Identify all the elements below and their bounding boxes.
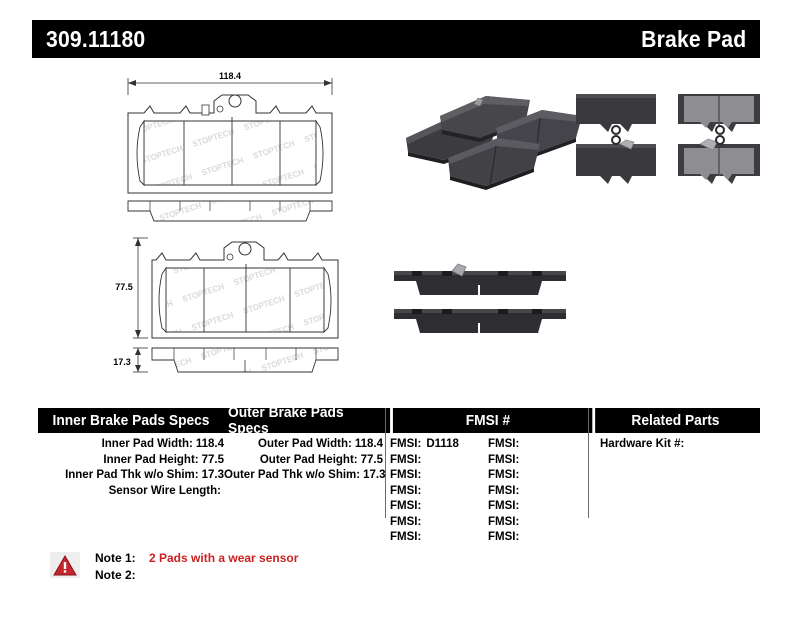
- dimension-width-label: 118.4: [219, 71, 241, 81]
- pad-edge-view-plain: [394, 309, 566, 333]
- spec-value: 118.4: [196, 438, 224, 450]
- fmsi-label: FMSI:: [390, 438, 421, 450]
- spec-label: Outer Pad Thk w/o Shim:: [224, 469, 360, 481]
- pad-backing-bottom-left: [576, 136, 656, 184]
- dimension-thickness-label: 17.3: [113, 357, 131, 367]
- note-value: 2 Pads with a wear sensor: [149, 551, 298, 565]
- fmsi-column-right: FMSI: FMSI: FMSI: FMSI: FMSI: FMSI: FMSI…: [488, 437, 586, 546]
- fmsi-row: FMSI:: [488, 530, 586, 546]
- photo-pad-grid-set: [570, 82, 770, 197]
- pad-edge-view-with-sensor: [394, 264, 566, 295]
- fmsi-row: FMSI:: [390, 499, 488, 515]
- note-row-2: Note 2:: [95, 567, 298, 584]
- spec-value: 17.3: [202, 469, 224, 481]
- spec-label: Inner Pad Thk w/o Shim:: [65, 469, 199, 481]
- pad-friction-bottom-right: [678, 136, 760, 184]
- column-header-outer: Outer Brake Pads Specs: [228, 408, 381, 433]
- spec-row: Outer Pad Width:118.4: [224, 437, 383, 453]
- fmsi-row: FMSI:: [488, 499, 586, 515]
- fmsi-label: FMSI:: [390, 516, 421, 528]
- column-divider-1: [385, 408, 386, 518]
- illustration-area: STOPTECH 118.4: [0, 60, 800, 390]
- table-header-row: Inner Brake Pads Specs Outer Brake Pads …: [38, 408, 760, 433]
- related-parts-list: Hardware Kit #:: [600, 437, 770, 453]
- inner-specs-list: Inner Pad Width:118.4 Inner Pad Height:7…: [38, 437, 224, 499]
- spec-value: 77.5: [361, 454, 383, 466]
- outer-specs-list: Outer Pad Width:118.4 Outer Pad Height:7…: [224, 437, 383, 484]
- fmsi-label: FMSI:: [488, 485, 519, 497]
- spec-sheet-page: 309.11180 Brake Pad STOPTECH: [0, 0, 800, 619]
- fmsi-label: FMSI:: [390, 454, 421, 466]
- note-row-1: Note 1:2 Pads with a wear sensor: [95, 550, 298, 567]
- header-bar: 309.11180 Brake Pad: [32, 20, 760, 58]
- fmsi-row: FMSI:: [390, 453, 488, 469]
- notes-text-block: Note 1:2 Pads with a wear sensor Note 2:: [95, 550, 298, 584]
- related-part-label: Hardware Kit #:: [600, 438, 684, 450]
- spec-row: Inner Pad Width:118.4: [38, 437, 224, 453]
- spec-value: 77.5: [202, 454, 224, 466]
- spec-label: Inner Pad Width:: [102, 438, 193, 450]
- dimension-height-label: 77.5: [115, 282, 133, 292]
- column-divider-2: [588, 408, 589, 518]
- product-type-label: Brake Pad: [641, 26, 746, 53]
- fmsi-value: D1118: [426, 438, 459, 450]
- fmsi-row: FMSI:: [390, 484, 488, 500]
- part-number: 309.11180: [46, 26, 145, 53]
- fmsi-label: FMSI:: [488, 500, 519, 512]
- fmsi-row: FMSI:: [390, 468, 488, 484]
- fmsi-row: FMSI:: [488, 453, 586, 469]
- note-label: Note 1:: [95, 550, 143, 567]
- warning-icon-container: [50, 552, 80, 578]
- spec-label: Inner Pad Height:: [103, 454, 198, 466]
- fmsi-row: FMSI:: [390, 530, 488, 546]
- fmsi-label: FMSI:: [390, 500, 421, 512]
- column-header-fmsi: FMSI #: [390, 408, 583, 433]
- fmsi-row: FMSI:: [488, 484, 586, 500]
- fmsi-label: FMSI:: [488, 531, 519, 543]
- specifications-table: Inner Brake Pads Specs Outer Brake Pads …: [0, 405, 800, 540]
- fmsi-row: FMSI:: [390, 515, 488, 531]
- fmsi-label: FMSI:: [488, 469, 519, 481]
- spec-value: 118.4: [355, 438, 383, 450]
- fmsi-label: FMSI:: [390, 531, 421, 543]
- fmsi-label: FMSI:: [488, 516, 519, 528]
- fmsi-row: FMSI:: [488, 437, 586, 453]
- fmsi-column-left: FMSI:D1118 FMSI: FMSI: FMSI: FMSI: FMSI:…: [390, 437, 488, 546]
- spec-row: Inner Pad Thk w/o Shim:17.3: [38, 468, 224, 484]
- tech-drawing-front-view: STOPTECH 77.5: [100, 220, 355, 390]
- pad-friction-top-right: [678, 94, 760, 134]
- notes-section: Note 1:2 Pads with a wear sensor Note 2:: [0, 548, 800, 593]
- tech-drawing-top-view: STOPTECH 118.4: [110, 65, 350, 225]
- fmsi-list: FMSI:D1118 FMSI: FMSI: FMSI: FMSI: FMSI:…: [390, 437, 586, 546]
- spec-row: Outer Pad Height:77.5: [224, 453, 383, 469]
- spec-row: Inner Pad Height:77.5: [38, 453, 224, 469]
- pad-backing-top-left: [576, 94, 656, 134]
- spec-value: 17.3: [363, 469, 385, 481]
- warning-triangle-icon: [53, 555, 77, 576]
- fmsi-label: FMSI:: [390, 469, 421, 481]
- column-header-related: Related Parts: [592, 408, 755, 433]
- column-header-inner: Inner Brake Pads Specs: [43, 408, 220, 433]
- spec-row: Sensor Wire Length:: [38, 484, 224, 500]
- fmsi-row: FMSI:: [488, 468, 586, 484]
- photo-angled-pad-set: [400, 80, 585, 190]
- spec-label: Outer Pad Height:: [260, 454, 358, 466]
- spec-row: Outer Pad Thk w/o Shim:17.3: [224, 468, 383, 484]
- fmsi-label: FMSI:: [390, 485, 421, 497]
- fmsi-row: FMSI:: [488, 515, 586, 531]
- note-label: Note 2:: [95, 567, 143, 584]
- spec-label: Outer Pad Width:: [258, 438, 352, 450]
- photo-pad-edge-views: [390, 255, 570, 345]
- spec-label: Sensor Wire Length:: [109, 485, 221, 497]
- related-part-row: Hardware Kit #:: [600, 437, 770, 453]
- fmsi-label: FMSI:: [488, 438, 519, 450]
- fmsi-label: FMSI:: [488, 454, 519, 466]
- fmsi-row: FMSI:D1118: [390, 437, 488, 453]
